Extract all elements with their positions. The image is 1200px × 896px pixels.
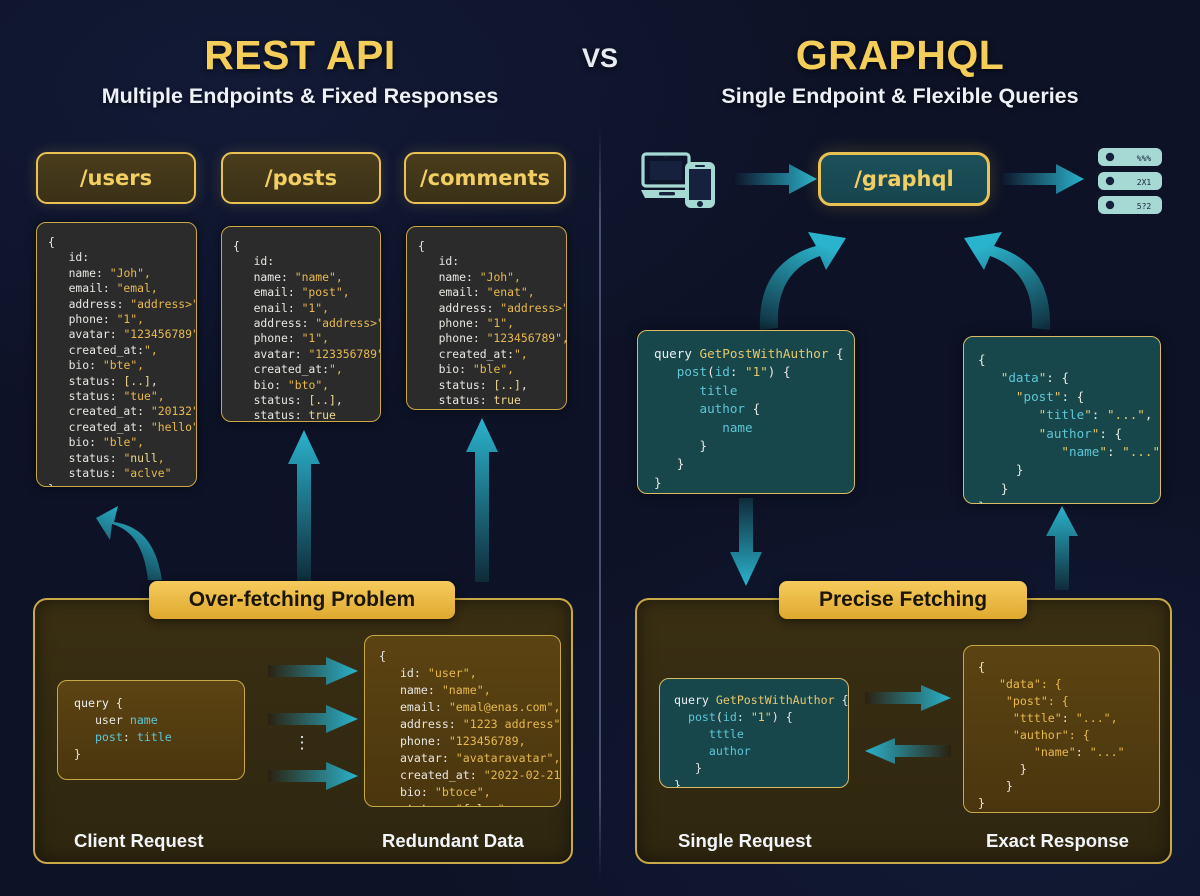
endpoint-posts[interactable]: /posts	[221, 152, 381, 204]
precise-fetching-ribbon: Precise Fetching	[779, 581, 1027, 619]
client-request-label: Client Request	[74, 830, 204, 852]
laptop-phone-icon	[641, 150, 723, 208]
arrow-rest-users-up	[96, 492, 168, 582]
endpoint-graphql[interactable]: /graphql	[818, 152, 990, 206]
rest-posts-response-code: { id: name: "name", email: "post", enail…	[221, 226, 381, 422]
arrow-graphql-up-right	[1046, 506, 1078, 590]
single-request-label: Single Request	[678, 830, 812, 852]
arrow-endpoint-to-server	[1000, 164, 1084, 194]
infographic-root: REST API Multiple Endpoints & Fixed Resp…	[0, 0, 1200, 896]
rest-client-query-code: query { user name post: title }	[57, 680, 245, 780]
arrow-query-up	[740, 212, 850, 332]
server-stack-icon: %%% 2X1 5?2	[1098, 148, 1162, 219]
endpoint-comments[interactable]: /comments	[404, 152, 566, 204]
redundant-data-label: Redundant Data	[382, 830, 524, 852]
graphql-exact-response-code: { "data": { "post": { "tttle": "...", "a…	[963, 645, 1160, 813]
svg-text:5?2: 5?2	[1137, 202, 1152, 211]
graphql-response-code: { "data": { "post": { "title": "...", "a…	[963, 336, 1161, 504]
ellipsis-vertical: ⋮	[292, 740, 312, 745]
exact-response-label: Exact Response	[986, 830, 1129, 852]
arrow-response-up	[960, 212, 1070, 332]
svg-text:2X1: 2X1	[1137, 178, 1152, 187]
rest-redundant-data-code: { id: "user", name: "name", email: "emal…	[364, 635, 561, 807]
graphql-subtitle: Single Endpoint & Flexible Queries	[630, 84, 1170, 109]
arrow-graphql-down	[730, 498, 762, 586]
arrow-rest-comments-up	[466, 418, 498, 582]
svg-text:%%%: %%%	[1137, 154, 1152, 163]
arrow-rest-posts-up	[288, 430, 320, 582]
graphql-single-request-code: query GetPostWithAuthor { post(id: "1") …	[659, 678, 849, 788]
endpoint-users[interactable]: /users	[36, 152, 196, 204]
vertical-divider	[599, 128, 601, 878]
graphql-query-code: query GetPostWithAuthor { post(id: "1") …	[637, 330, 855, 494]
graphql-title: GRAPHQL	[660, 32, 1140, 79]
rest-users-response-code: { id: name: "Joh", email: "emal, address…	[36, 222, 197, 487]
rest-subtitle: Multiple Endpoints & Fixed Responses	[30, 84, 570, 109]
vs-label: VS	[560, 43, 640, 74]
arrow-client-to-endpoint	[733, 164, 817, 194]
rest-comments-response-code: { id: name: "Joh", email: "enat", addres…	[406, 226, 567, 410]
rest-title: REST API	[60, 32, 540, 79]
over-fetching-ribbon: Over-fetching Problem	[149, 581, 455, 619]
